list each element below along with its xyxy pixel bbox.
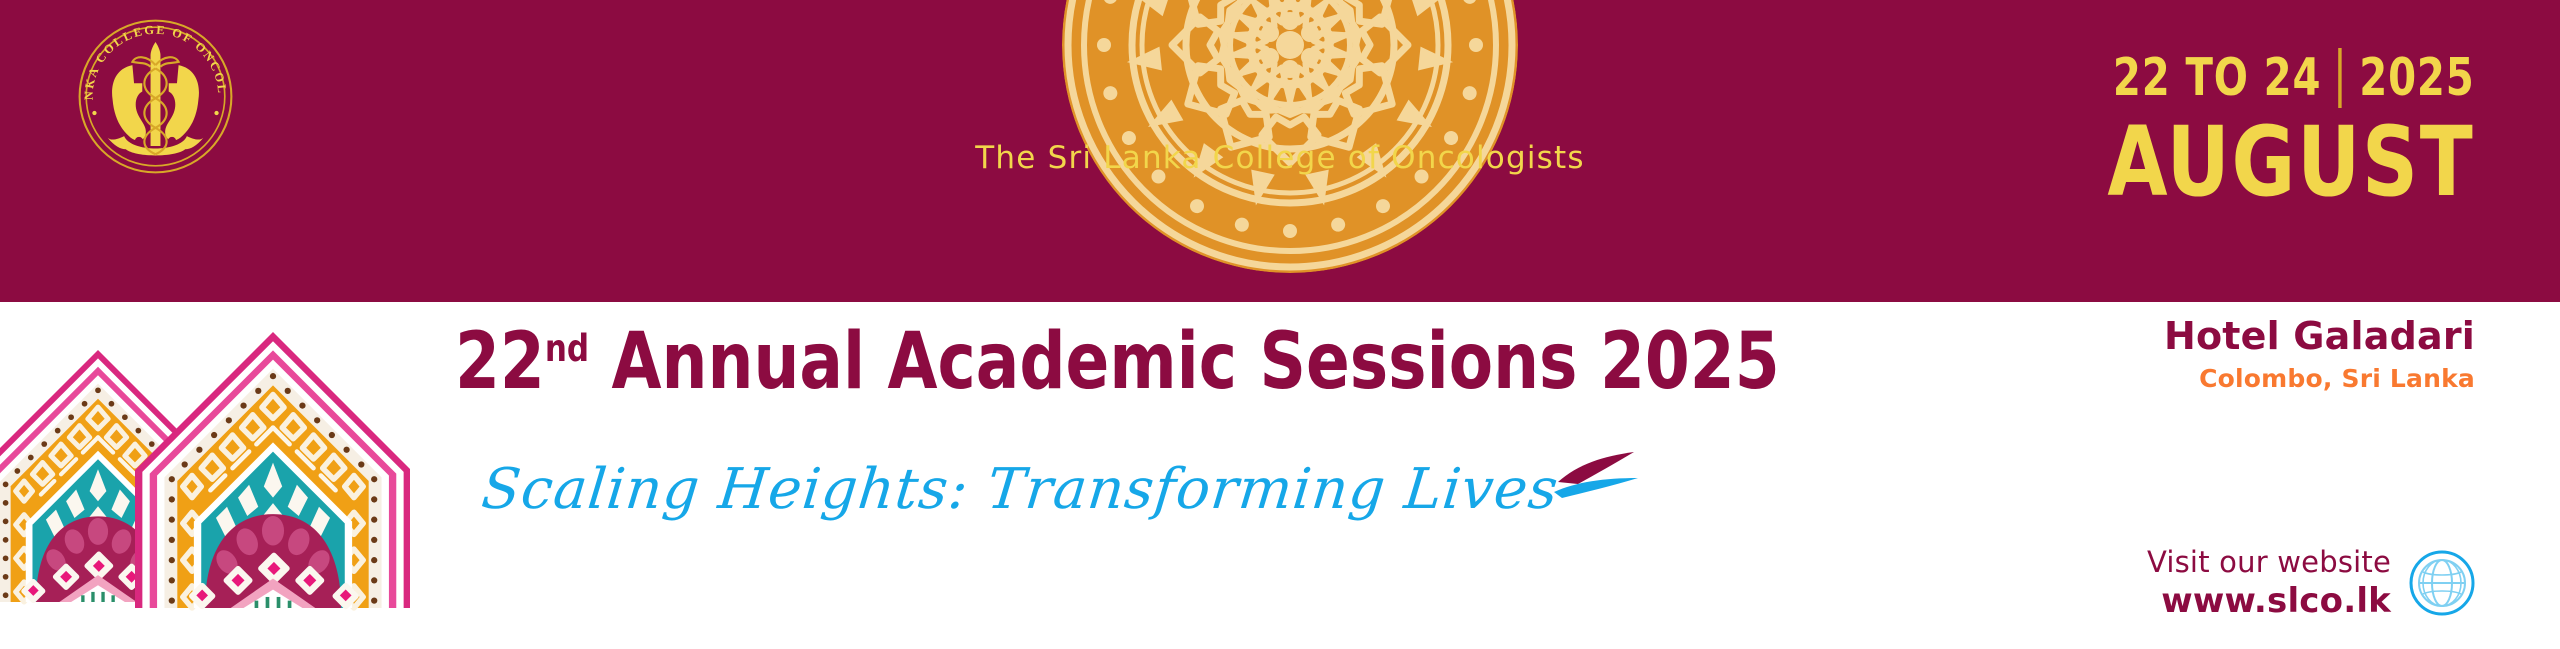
traditional-craft-motif [0, 222, 410, 649]
venue-block: Hotel Galadari Colombo, Sri Lanka [2164, 314, 2475, 393]
visit-website-label: Visit our website [2147, 545, 2391, 579]
tagline-swoosh-icon [1552, 448, 1642, 509]
mandala-ornament [1060, 0, 1520, 275]
date-range: 22 TO 24 [2113, 52, 2321, 104]
venue-name: Hotel Galadari [2164, 314, 2475, 358]
craft-motif-tile-right [135, 332, 410, 610]
event-month: AUGUST [2096, 114, 2475, 212]
event-date-block: 22 TO 24 2025 AUGUST [2054, 48, 2475, 212]
globe-icon[interactable] [2409, 550, 2475, 616]
website-block[interactable]: Visit our website www.slco.lk [2147, 545, 2475, 621]
page-title: 22nd Annual Academic Sessions 2025 [455, 323, 1780, 401]
title-ordinal-number: 22 [455, 317, 545, 407]
conference-banner: SRI LANKA COLLEGE OF ONCOLOGISTS [0, 0, 2560, 649]
event-tagline: Scaling Heights: Transforming Lives [479, 459, 1562, 521]
tagline-wrap: Scaling Heights: Transforming Lives [482, 448, 1642, 521]
title-rest: Annual Academic Sessions 2025 [589, 317, 1780, 407]
date-year: 2025 [2360, 52, 2475, 104]
title-ordinal-suffix: nd [545, 326, 589, 370]
date-range-row: 22 TO 24 2025 [2113, 48, 2475, 108]
website-text: Visit our website www.slco.lk [2147, 545, 2391, 621]
venue-city: Colombo, Sri Lanka [2164, 364, 2475, 393]
website-url[interactable]: www.slco.lk [2147, 581, 2391, 621]
date-divider [2339, 48, 2342, 108]
